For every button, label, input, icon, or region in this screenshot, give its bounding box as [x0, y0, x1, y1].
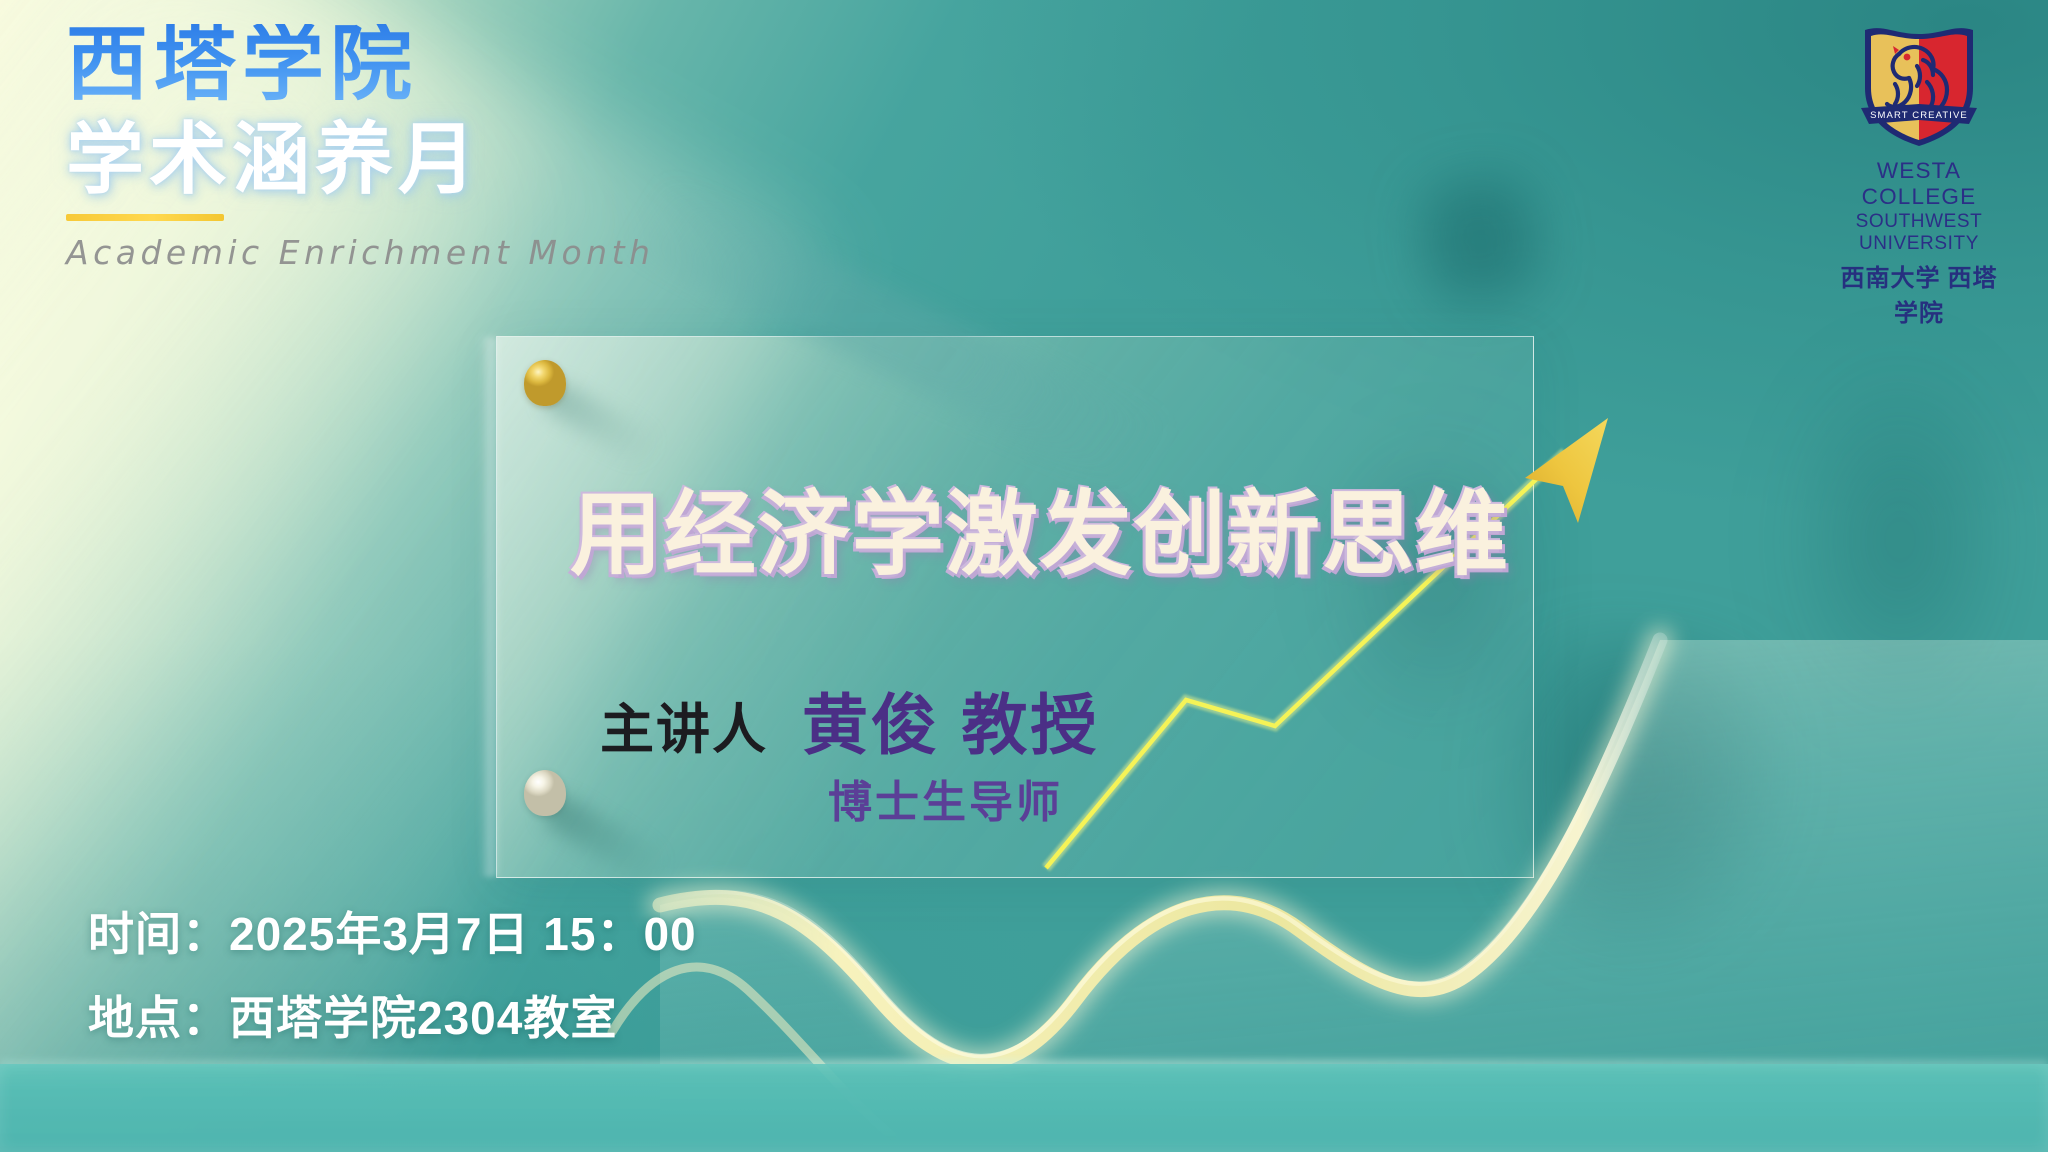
brand-series-title: 学术涵养月 [66, 120, 654, 198]
lion-crest-shield-icon: SMART CREATIVE [1855, 20, 1983, 152]
event-venue: 地点：西塔学院2304教室 [88, 982, 697, 1048]
event-info-block: 时间：2025年3月7日 15：00 地点：西塔学院2304教室 [88, 898, 697, 1048]
wall-shadow-far-right [1750, 300, 2048, 780]
speaker-name: 黄俊 教授 [802, 672, 1099, 768]
floor-band [0, 1064, 2048, 1152]
wall-shadow-small [1417, 173, 1543, 307]
logo-name-en-secondary: SOUTHWEST UNIVERSITY [1834, 211, 2004, 255]
brand-block: 西塔学院 学术涵养月 Academic Enrichment Month [66, 24, 654, 272]
crest-motto-text: SMART CREATIVE [1870, 110, 1968, 121]
white-pin-icon [524, 770, 566, 816]
brand-divider-rule [66, 214, 224, 221]
speaker-role: 博士生导师 [828, 766, 1063, 830]
poster-canvas: 西塔学院 学术涵养月 Academic Enrichment Month [0, 0, 2048, 1152]
logo-name-en-primary: WESTA COLLEGE [1834, 158, 2004, 210]
speaker-label: 主讲人 [600, 685, 768, 764]
glass-panel-left-edge [479, 337, 501, 877]
speaker-row: 主讲人 黄俊 教授 [600, 672, 1099, 768]
brand-series-subtitle-en: Academic Enrichment Month [66, 233, 654, 272]
brand-college-name: 西塔学院 [66, 24, 654, 106]
lecture-title: 用经济学激发创新思维 [570, 486, 1510, 585]
logo-name-cn: 西南大学 西塔学院 [1834, 258, 2004, 328]
college-logo: SMART CREATIVE WESTA COLLEGE SOUTHWEST U… [1834, 20, 2004, 328]
event-time: 时间：2025年3月7日 15：00 [88, 898, 697, 964]
gold-pin-icon [524, 360, 566, 406]
